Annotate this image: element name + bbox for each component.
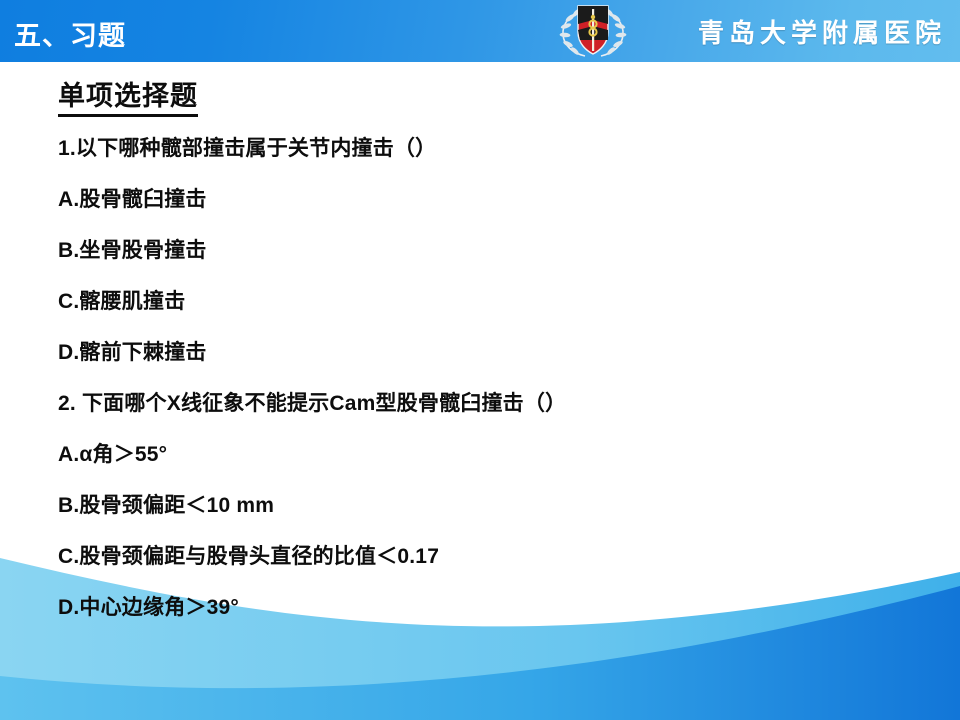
question-1-option-a[interactable]: A.股骨髋臼撞击 <box>58 183 207 213</box>
page-title: 单项选择题 <box>58 74 198 117</box>
question-1-option-c[interactable]: C.髂腰肌撞击 <box>58 285 185 315</box>
slide: 五、习题 <box>0 0 960 720</box>
question-2-text: 2. 下面哪个X线征象不能提示Cam型股骨髋臼撞击（） <box>58 387 566 417</box>
question-1-text: 1.以下哪种髋部撞击属于关节内撞击（） <box>58 132 436 162</box>
question-2-option-b[interactable]: B.股骨颈偏距＜10 mm <box>58 489 274 519</box>
slide-header-bar: 五、习题 <box>0 0 960 62</box>
hospital-name: 青岛大学附属医院 <box>698 13 946 50</box>
question-1-option-b[interactable]: B.坐骨股骨撞击 <box>58 234 207 264</box>
question-2-option-c[interactable]: C.股骨颈偏距与股骨头直径的比值＜0.17 <box>58 540 439 570</box>
slide-content: 单项选择题 1.以下哪种髋部撞击属于关节内撞击（） A.股骨髋臼撞击 B.坐骨股… <box>0 62 960 720</box>
section-label: 五、习题 <box>14 14 126 53</box>
question-1-option-d[interactable]: D.髂前下棘撞击 <box>58 336 207 366</box>
hospital-shield-laurel-logo <box>556 0 630 62</box>
question-2-option-d[interactable]: D.中心边缘角＞39° <box>58 591 239 621</box>
question-2-option-a[interactable]: A.α角＞55° <box>58 438 167 468</box>
